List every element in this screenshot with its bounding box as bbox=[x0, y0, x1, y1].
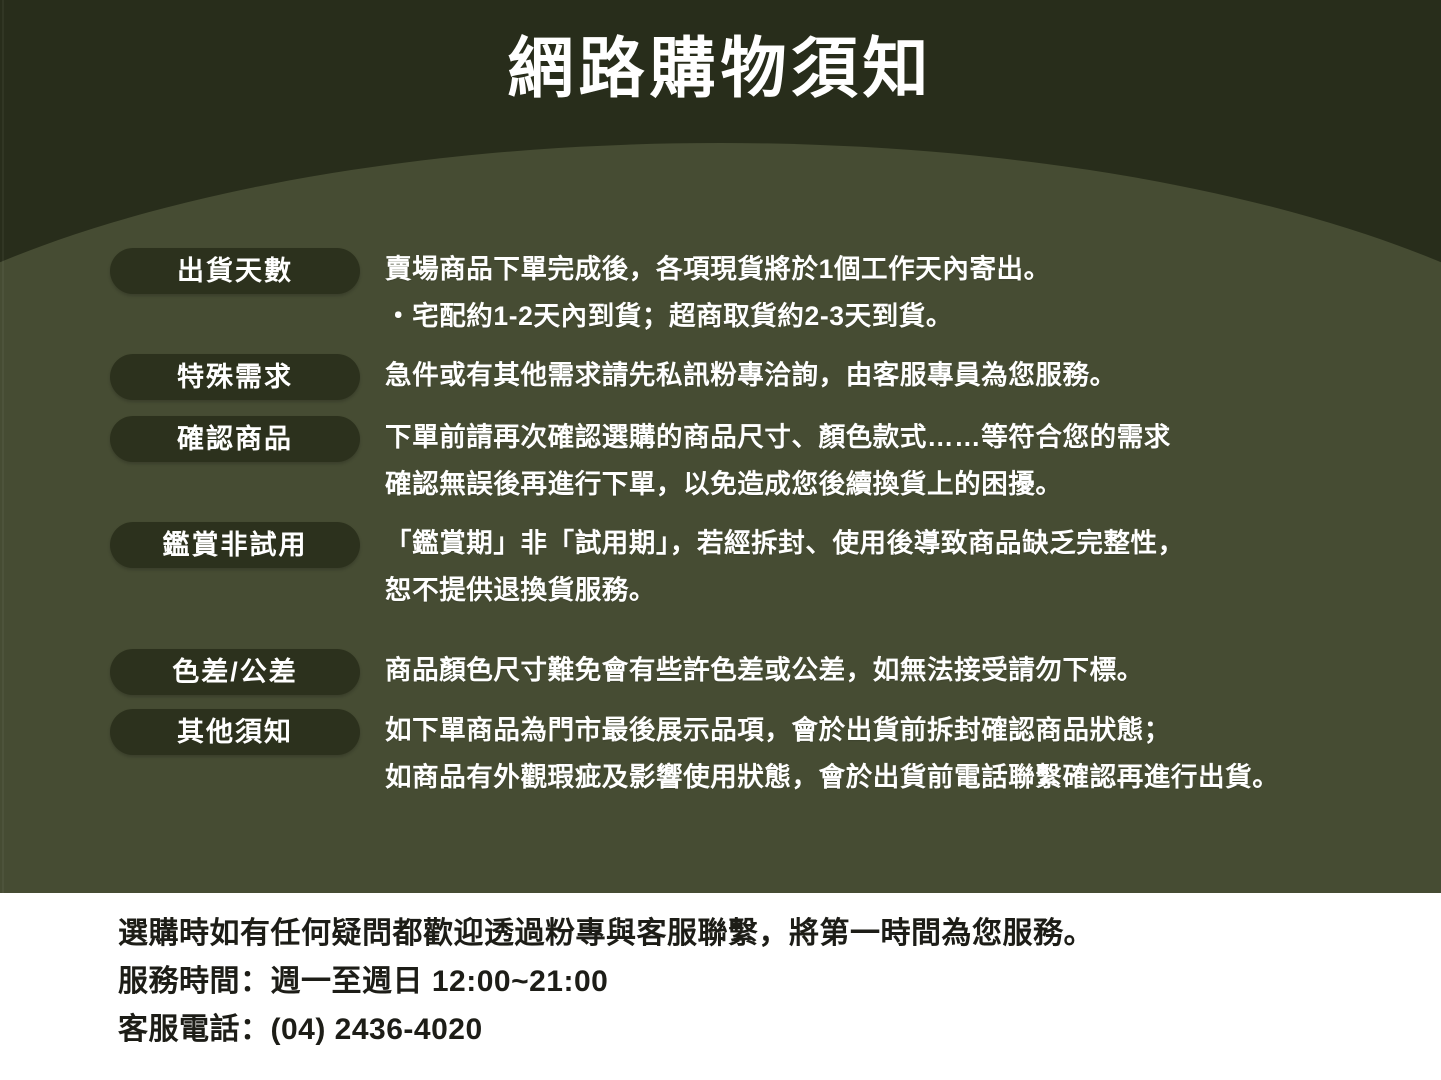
notice-body: 「鑑賞期」非「試用期」，若經拆封、使用後導致商品缺乏完整性， 恕不提供退換貨服務… bbox=[360, 520, 1441, 614]
notice-label-confirm-product: 確認商品 bbox=[110, 416, 360, 462]
pill-container: 特殊需求 bbox=[0, 352, 360, 400]
pill-container: 出貨天數 bbox=[0, 246, 360, 294]
notice-row: 色差/公差 商品顏色尺寸難免會有些許色差或公差，如無法接受請勿下標。 bbox=[0, 647, 1441, 695]
notice-body: 賣場商品下單完成後，各項現貨將於1個工作天內寄出。 ・宅配約1-2天內到貨；超商… bbox=[360, 246, 1441, 340]
contact-footer: 選購時如有任何疑問都歡迎透過粉專與客服聯繫，將第一時間為您服務。 服務時間：週一… bbox=[0, 893, 1441, 1080]
footer-contact-invitation: 選購時如有任何疑問都歡迎透過粉專與客服聯繫，將第一時間為您服務。 bbox=[118, 910, 1094, 958]
notice-body-line: 急件或有其他需求請先私訊粉專洽詢，由客服專員為您服務。 bbox=[385, 352, 1441, 399]
hero-panel: 網路購物須知 出貨天數 賣場商品下單完成後，各項現貨將於1個工作天內寄出。 ・宅… bbox=[0, 0, 1441, 893]
page-title: 網路購物須知 bbox=[0, 26, 1441, 110]
notice-graphic: 網路購物須知 出貨天數 賣場商品下單完成後，各項現貨將於1個工作天內寄出。 ・宅… bbox=[0, 0, 1441, 1080]
notice-label-other-notes: 其他須知 bbox=[110, 709, 360, 755]
notice-row: 鑑賞非試用 「鑑賞期」非「試用期」，若經拆封、使用後導致商品缺乏完整性， 恕不提… bbox=[0, 520, 1441, 614]
notice-body: 下單前請再次確認選購的商品尺寸、顏色款式……等符合您的需求 確認無誤後再進行下單… bbox=[360, 414, 1441, 508]
notice-body: 商品顏色尺寸難免會有些許色差或公差，如無法接受請勿下標。 bbox=[360, 647, 1441, 694]
footer-service-hours: 服務時間：週一至週日 12:00~21:00 bbox=[118, 958, 1094, 1006]
notice-label-inspection-not-trial: 鑑賞非試用 bbox=[110, 522, 360, 568]
notice-row: 出貨天數 賣場商品下單完成後，各項現貨將於1個工作天內寄出。 ・宅配約1-2天內… bbox=[0, 246, 1441, 340]
contact-footer-text: 選購時如有任何疑問都歡迎透過粉專與客服聯繫，將第一時間為您服務。 服務時間：週一… bbox=[118, 910, 1094, 1054]
notice-body: 急件或有其他需求請先私訊粉專洽詢，由客服專員為您服務。 bbox=[360, 352, 1441, 399]
notice-body-line: 如商品有外觀瑕疵及影響使用狀態，會於出貨前電話聯繫確認再進行出貨。 bbox=[385, 754, 1441, 801]
notice-row: 特殊需求 急件或有其他需求請先私訊粉專洽詢，由客服專員為您服務。 bbox=[0, 352, 1441, 400]
footer-service-phone: 客服電話：(04) 2436-4020 bbox=[118, 1006, 1094, 1054]
notice-row: 確認商品 下單前請再次確認選購的商品尺寸、顏色款式……等符合您的需求 確認無誤後… bbox=[0, 414, 1441, 508]
notice-body-line: 賣場商品下單完成後，各項現貨將於1個工作天內寄出。 bbox=[385, 246, 1441, 293]
notice-body-line: 確認無誤後再進行下單，以免造成您後續換貨上的困擾。 bbox=[385, 461, 1441, 508]
notice-body-line: 恕不提供退換貨服務。 bbox=[385, 567, 1441, 614]
pill-container: 色差/公差 bbox=[0, 647, 360, 695]
pill-container: 確認商品 bbox=[0, 414, 360, 462]
notice-body-line: 下單前請再次確認選購的商品尺寸、顏色款式……等符合您的需求 bbox=[385, 414, 1441, 461]
notice-row-list: 出貨天數 賣場商品下單完成後，各項現貨將於1個工作天內寄出。 ・宅配約1-2天內… bbox=[0, 246, 1441, 801]
pill-container: 其他須知 bbox=[0, 707, 360, 755]
notice-body: 如下單商品為門市最後展示品項，會於出貨前拆封確認商品狀態； 如商品有外觀瑕疵及影… bbox=[360, 707, 1441, 801]
notice-body-line: 如下單商品為門市最後展示品項，會於出貨前拆封確認商品狀態； bbox=[385, 707, 1441, 754]
notice-body-line: 商品顏色尺寸難免會有些許色差或公差，如無法接受請勿下標。 bbox=[385, 647, 1441, 694]
notice-label-special-request: 特殊需求 bbox=[110, 354, 360, 400]
notice-body-line: 「鑑賞期」非「試用期」，若經拆封、使用後導致商品缺乏完整性， bbox=[385, 520, 1441, 567]
notice-label-color-tolerance: 色差/公差 bbox=[110, 649, 360, 695]
notice-body-line: ・宅配約1-2天內到貨；超商取貨約2-3天到貨。 bbox=[385, 293, 1441, 340]
pill-container: 鑑賞非試用 bbox=[0, 520, 360, 568]
notice-label-shipping-days: 出貨天數 bbox=[110, 248, 360, 294]
notice-row: 其他須知 如下單商品為門市最後展示品項，會於出貨前拆封確認商品狀態； 如商品有外… bbox=[0, 707, 1441, 801]
